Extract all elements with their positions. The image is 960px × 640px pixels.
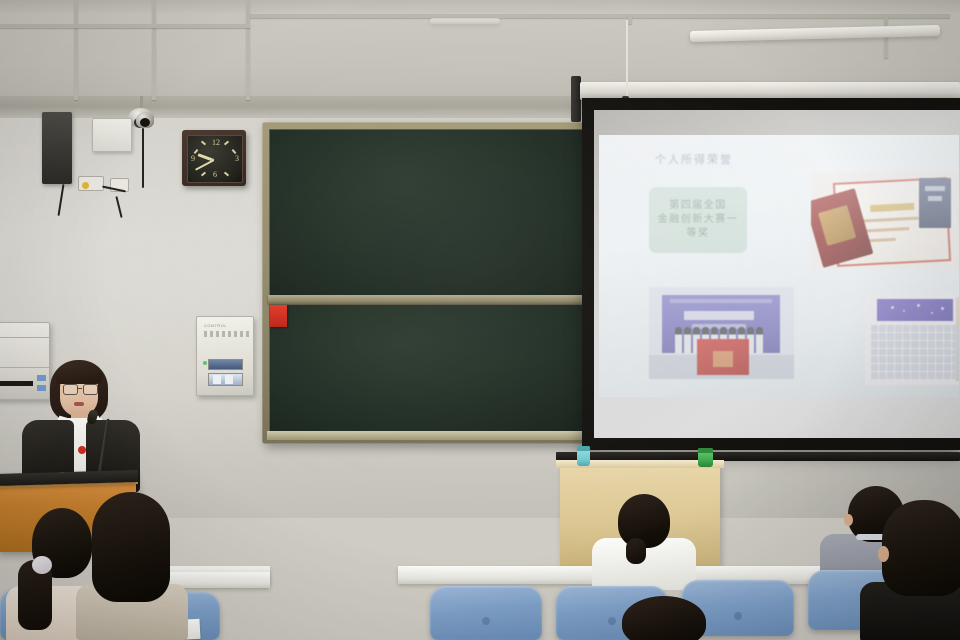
conduit-pipe: [74, 0, 78, 100]
red-marker[interactable]: [270, 305, 287, 327]
attendee-ear: [844, 514, 853, 526]
fluorescent-light: [430, 18, 500, 24]
attendee-head: [622, 596, 706, 640]
hair-scrunchie: [32, 556, 52, 574]
water-bottle-green[interactable]: [698, 448, 713, 467]
blackboard-pane-upper: [269, 129, 589, 297]
screen-pull-cord[interactable]: [626, 20, 628, 98]
conduit-pipe: [250, 14, 950, 18]
slide-photo-honor-poster: [865, 293, 959, 385]
attendee-dark-jacket: [872, 500, 960, 640]
red-banner: [697, 339, 749, 375]
attendee-ear: [878, 546, 889, 562]
indicator-dot: [82, 182, 89, 189]
student-long-hair: [78, 492, 188, 640]
ceiling-edge: [0, 0, 960, 13]
poster-photo-grid: [871, 325, 959, 379]
slide-photo-certificates: [811, 172, 959, 269]
poster-header: [877, 299, 953, 321]
wall-clock: 12 3 6 9: [182, 130, 246, 186]
av-control-panel[interactable]: CONTROL: [196, 316, 254, 396]
blackboard-pane-lower: [269, 304, 589, 435]
slide-photo-stage-group: [649, 287, 794, 379]
clock-face: 12 3 6 9: [187, 135, 243, 183]
water-bottle-teal[interactable]: [577, 446, 590, 466]
camera-cable: [142, 128, 144, 188]
glasses-icon: [63, 384, 96, 393]
attendee-head: [882, 500, 960, 596]
chair[interactable]: [430, 586, 542, 640]
bottle-cap: [577, 446, 590, 451]
attendee-white-top: [590, 494, 700, 586]
blackboard-divider: [268, 295, 588, 304]
presenter-mouth: [74, 402, 84, 406]
attendee-ponytail: [626, 538, 646, 564]
highlight-line-2: 金融创新大赛一: [658, 213, 739, 227]
junction-box: [92, 118, 132, 152]
control-panel-display: [208, 359, 243, 370]
clock-numeral-12: 12: [212, 139, 220, 147]
presentation-slide: 个人所得荣誉 第四届全国 金融创新大赛一 等奖: [599, 135, 959, 397]
projection-screen: 个人所得荣誉 第四届全国 金融创新大赛一 等奖: [594, 110, 960, 438]
control-panel-buttons[interactable]: [208, 373, 243, 386]
presenter-badge: [78, 446, 86, 454]
classroom-photo: 12 3 6 9 CONTROL: [0, 0, 960, 640]
chalk-tray: [267, 431, 589, 440]
conduit-pipe: [152, 0, 156, 100]
student-head: [92, 492, 170, 602]
presenter-fringe: [56, 364, 103, 384]
bottle-cap: [698, 448, 713, 453]
control-panel-label: CONTROL: [204, 323, 227, 328]
slide-title: 个人所得荣誉: [655, 151, 733, 167]
highlight-line-3: 等奖: [687, 227, 710, 241]
clock-numeral-3: 3: [235, 155, 239, 163]
wall-speaker: [42, 112, 72, 184]
clock-numeral-9: 9: [191, 155, 195, 163]
slide-highlight-box: 第四届全国 金融创新大赛一 等奖: [649, 187, 747, 253]
attendee-head: [618, 494, 670, 548]
clock-numeral-6: 6: [213, 171, 217, 179]
control-panel-vents: [204, 331, 249, 337]
certificate-side-tag: [919, 178, 951, 228]
blackboard-surface: [269, 129, 587, 437]
conduit-pipe: [628, 14, 632, 24]
attendee-foreground: [604, 596, 724, 640]
wall-camera-icon: [136, 112, 154, 128]
clock-minute-hand: [195, 159, 214, 171]
power-led-icon: [203, 361, 207, 365]
conduit-pipe: [0, 24, 250, 28]
blackboard: [262, 122, 594, 444]
highlight-line-1: 第四届全国: [669, 199, 727, 213]
